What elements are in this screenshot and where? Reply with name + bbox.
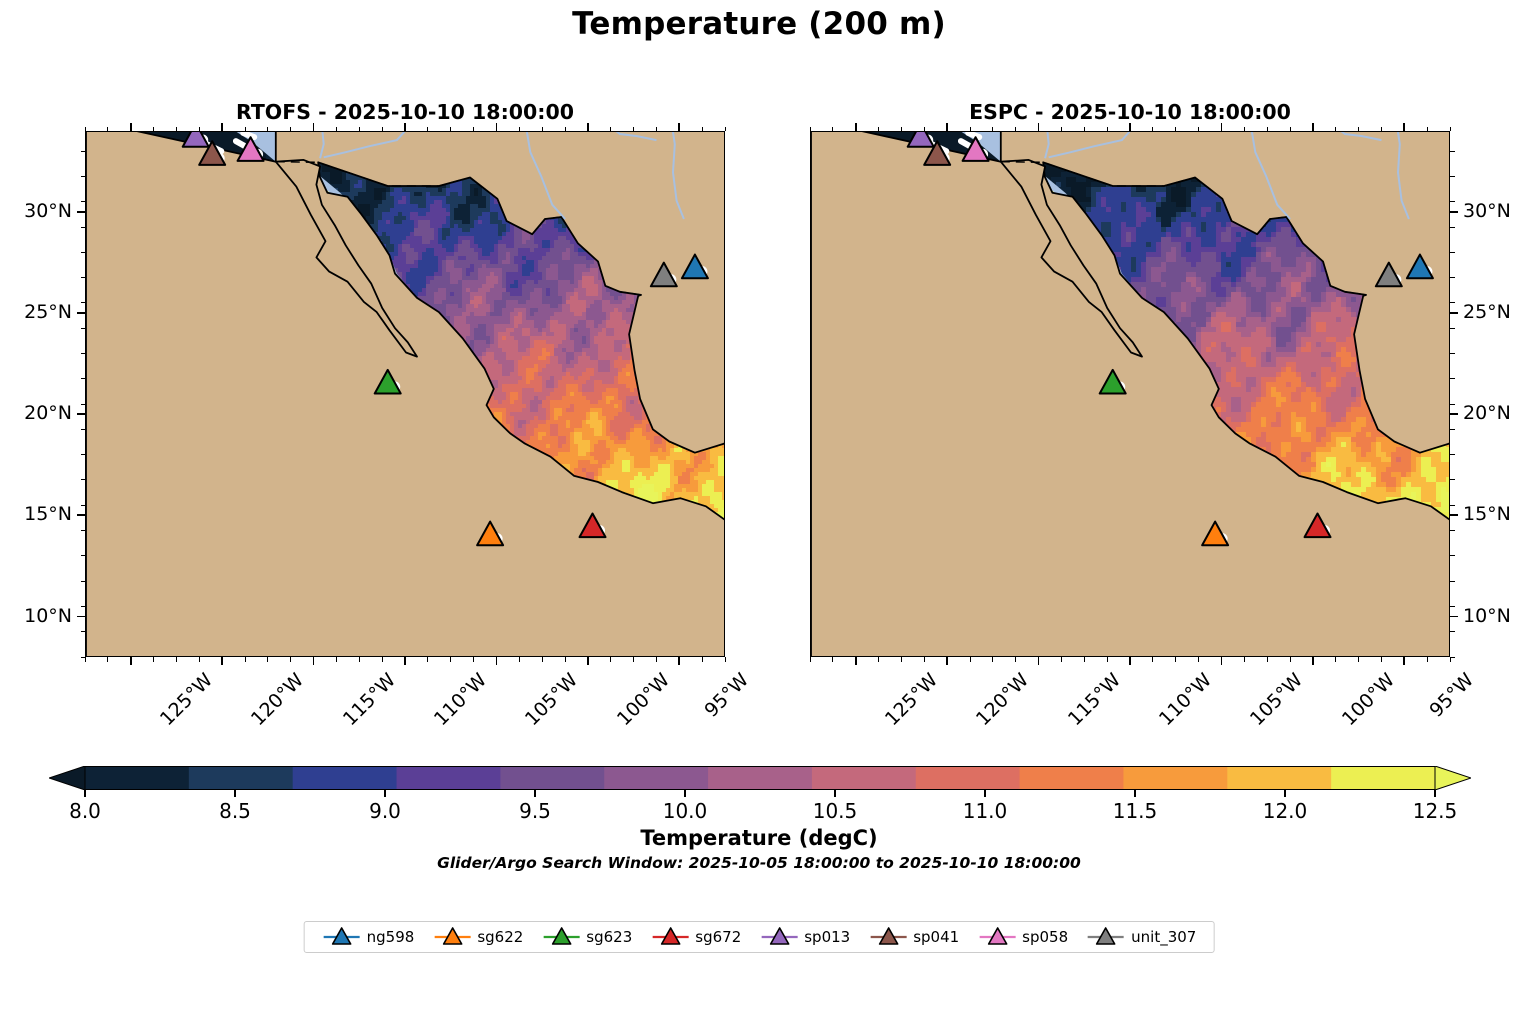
xtick-top bbox=[519, 127, 520, 132]
platform-legend[interactable]: ng598sg622sg623sg672sp013sp041sp058unit_… bbox=[304, 921, 1215, 953]
colorbar-band-7 bbox=[812, 766, 916, 790]
xtick-top bbox=[199, 127, 200, 132]
xtick-minor bbox=[810, 657, 811, 662]
xtick-top bbox=[1152, 127, 1153, 132]
xtick-label: 100°W bbox=[1338, 669, 1399, 730]
colorbar-tick-label: 12.0 bbox=[1245, 799, 1325, 823]
panel-title-espc: ESPC - 2025-10-10 18:00:00 bbox=[810, 100, 1450, 124]
ytick-minor bbox=[1450, 353, 1455, 354]
xtick-top bbox=[1312, 123, 1314, 131]
xtick-top bbox=[1358, 127, 1359, 132]
xtick-minor bbox=[1152, 657, 1153, 662]
xtick-minor bbox=[359, 657, 360, 662]
xtick-top bbox=[610, 127, 611, 132]
xtick-minor bbox=[1244, 657, 1245, 662]
xtick-label: 105°W bbox=[1246, 669, 1307, 730]
legend-entry-sg672[interactable]: sg672 bbox=[650, 926, 741, 948]
xtick-top bbox=[336, 127, 337, 132]
xtick-top bbox=[565, 127, 566, 132]
ytick-minor bbox=[1450, 530, 1455, 531]
colorbar-tick-label: 11.0 bbox=[945, 799, 1025, 823]
legend-label: ng598 bbox=[367, 928, 415, 946]
colorbar-band-11 bbox=[1227, 766, 1331, 790]
search-window-caption: Glider/Argo Search Window: 2025-10-05 18… bbox=[0, 854, 1518, 872]
xtick-label: 110°W bbox=[430, 669, 491, 730]
xtick-label: 100°W bbox=[613, 669, 674, 730]
xtick-major bbox=[130, 657, 132, 665]
ytick-minor bbox=[1450, 657, 1455, 658]
xtick-top bbox=[587, 123, 589, 131]
ytick-minor bbox=[81, 657, 86, 658]
ytick-minor bbox=[81, 404, 86, 405]
legend-marker-sp058 bbox=[977, 926, 1017, 948]
xtick-major bbox=[1221, 657, 1223, 665]
xtick-label: 110°W bbox=[1155, 669, 1216, 730]
xtick-top bbox=[656, 127, 657, 132]
colorbar-tick bbox=[834, 790, 836, 797]
ytick-minor bbox=[1450, 302, 1455, 303]
xtick-minor bbox=[633, 657, 634, 662]
xtick-top bbox=[1107, 127, 1108, 132]
colorbar-tick-label: 9.5 bbox=[495, 799, 575, 823]
xtick-major bbox=[678, 657, 680, 665]
xtick-top bbox=[1335, 127, 1336, 132]
xtick-major bbox=[587, 657, 589, 665]
xtick-label: 120°W bbox=[972, 669, 1033, 730]
ytick-label: 25°N bbox=[1463, 301, 1511, 323]
legend-marker-sg622 bbox=[432, 926, 472, 948]
xtick-top bbox=[427, 127, 428, 132]
xtick-top bbox=[924, 127, 925, 132]
xtick-minor bbox=[1061, 657, 1062, 662]
xtick-minor bbox=[153, 657, 154, 662]
xtick-top bbox=[1015, 127, 1016, 132]
ytick-label: 30°N bbox=[1463, 200, 1511, 222]
legend-marker-unit_307 bbox=[1086, 926, 1126, 948]
xtick-major bbox=[404, 657, 406, 665]
ytick-minor bbox=[1450, 631, 1455, 632]
colorbar-tick-label: 10.0 bbox=[645, 799, 725, 823]
colorbar-tick-label: 8.5 bbox=[195, 799, 275, 823]
xtick-minor bbox=[473, 657, 474, 662]
xtick-label: 115°W bbox=[1063, 669, 1124, 730]
ytick-minor bbox=[1450, 328, 1455, 329]
ytick-minor bbox=[81, 227, 86, 228]
xtick-major bbox=[496, 657, 498, 665]
ytick-minor bbox=[81, 581, 86, 582]
xtick-top bbox=[1084, 127, 1085, 132]
xtick-top bbox=[176, 127, 177, 132]
xtick-top bbox=[1038, 123, 1040, 131]
xtick-minor bbox=[1335, 657, 1336, 662]
map-canvas-espc bbox=[811, 132, 1450, 657]
ytick-minor bbox=[81, 328, 86, 329]
xtick-top bbox=[267, 127, 268, 132]
colorbar-band-8 bbox=[916, 766, 1020, 790]
xtick-label: 95°W bbox=[1426, 669, 1479, 722]
xtick-top bbox=[245, 127, 246, 132]
colorbar-tick-label: 12.5 bbox=[1395, 799, 1475, 823]
ytick-minor bbox=[81, 277, 86, 278]
legend-label: sg622 bbox=[477, 928, 523, 946]
xtick-top bbox=[404, 123, 406, 131]
ytick-minor bbox=[81, 151, 86, 152]
glider-track-2 bbox=[968, 133, 979, 137]
ytick-minor bbox=[81, 353, 86, 354]
xtick-top bbox=[1450, 127, 1451, 132]
ytick-minor bbox=[81, 429, 86, 430]
ytick-label: 25°N bbox=[24, 301, 72, 323]
ytick-minor bbox=[81, 505, 86, 506]
xtick-minor bbox=[245, 657, 246, 662]
xtick-top bbox=[1221, 123, 1223, 131]
ytick-minor bbox=[1450, 429, 1455, 430]
xtick-major bbox=[855, 657, 857, 665]
xtick-minor bbox=[176, 657, 177, 662]
xtick-minor bbox=[992, 657, 993, 662]
xtick-minor bbox=[1175, 657, 1176, 662]
ytick-major bbox=[77, 413, 85, 415]
colorbar-tick-label: 11.5 bbox=[1095, 799, 1175, 823]
legend-label: sp013 bbox=[804, 928, 850, 946]
ytick-minor bbox=[81, 454, 86, 455]
ytick-major bbox=[77, 211, 85, 213]
xtick-minor bbox=[901, 657, 902, 662]
legend-entry-unit_307[interactable]: unit_307 bbox=[1086, 926, 1196, 948]
xtick-minor bbox=[970, 657, 971, 662]
xtick-top bbox=[496, 123, 498, 131]
xtick-top bbox=[1267, 127, 1268, 132]
legend-marker-sg623 bbox=[541, 926, 581, 948]
xtick-top bbox=[1244, 127, 1245, 132]
xtick-top bbox=[1403, 123, 1405, 131]
legend-marker-sp013 bbox=[759, 926, 799, 948]
xtick-top bbox=[1198, 127, 1199, 132]
colorbar-tick bbox=[984, 790, 986, 797]
xtick-top bbox=[678, 123, 680, 131]
legend-label: unit_307 bbox=[1131, 928, 1196, 946]
ytick-label: 20°N bbox=[1463, 402, 1511, 424]
colorbar-tick bbox=[1284, 790, 1286, 797]
colorbar-title: Temperature (degC) bbox=[0, 826, 1518, 850]
colorbar-band-3 bbox=[397, 766, 501, 790]
xtick-label: 115°W bbox=[338, 669, 399, 730]
ytick-label: 15°N bbox=[1463, 503, 1511, 525]
ytick-minor bbox=[81, 631, 86, 632]
xtick-top bbox=[1061, 127, 1062, 132]
colorbar[interactable] bbox=[49, 766, 1471, 790]
panel-title-rtofs: RTOFS - 2025-10-10 18:00:00 bbox=[85, 100, 725, 124]
ytick-label: 10°N bbox=[1463, 605, 1511, 627]
ytick-minor bbox=[1450, 479, 1455, 480]
ytick-minor bbox=[81, 176, 86, 177]
ytick-minor bbox=[1450, 606, 1455, 607]
xtick-label: 125°W bbox=[881, 669, 942, 730]
xtick-minor bbox=[290, 657, 291, 662]
colorbar-tick-label: 10.5 bbox=[795, 799, 875, 823]
colorbar-band-5 bbox=[604, 766, 708, 790]
xtick-label: 125°W bbox=[156, 669, 217, 730]
xtick-minor bbox=[832, 657, 833, 662]
xtick-top bbox=[130, 123, 132, 131]
figure-title: Temperature (200 m) bbox=[0, 6, 1518, 42]
colorbar-band-1 bbox=[189, 766, 293, 790]
ytick-minor bbox=[81, 302, 86, 303]
ytick-minor bbox=[1450, 454, 1455, 455]
xtick-minor bbox=[1107, 657, 1108, 662]
xtick-minor bbox=[1267, 657, 1268, 662]
xtick-top bbox=[725, 127, 726, 132]
xtick-minor bbox=[336, 657, 337, 662]
xtick-top bbox=[855, 123, 857, 131]
ytick-label: 15°N bbox=[24, 503, 72, 525]
ytick-major bbox=[1450, 616, 1458, 618]
ytick-label: 20°N bbox=[24, 402, 72, 424]
xtick-major bbox=[1129, 657, 1131, 665]
colorbar-band-6 bbox=[708, 766, 812, 790]
ytick-major bbox=[77, 616, 85, 618]
xtick-minor bbox=[450, 657, 451, 662]
xtick-top bbox=[1427, 127, 1428, 132]
xtick-minor bbox=[85, 657, 86, 662]
colorbar-tick bbox=[684, 790, 686, 797]
ytick-minor bbox=[81, 252, 86, 253]
ytick-label: 30°N bbox=[24, 200, 72, 222]
colorbar-tick bbox=[84, 790, 86, 797]
legend-label: sp058 bbox=[1022, 928, 1068, 946]
xtick-label: 95°W bbox=[701, 669, 754, 722]
xtick-top bbox=[85, 127, 86, 132]
xtick-minor bbox=[107, 657, 108, 662]
colorbar-tick bbox=[384, 790, 386, 797]
colorbar-tick-label: 9.0 bbox=[345, 799, 425, 823]
ytick-minor bbox=[81, 378, 86, 379]
xtick-top bbox=[1175, 127, 1176, 132]
xtick-top bbox=[1290, 127, 1291, 132]
ytick-major bbox=[77, 514, 85, 516]
ytick-label: 10°N bbox=[24, 605, 72, 627]
ytick-minor bbox=[81, 555, 86, 556]
ytick-minor bbox=[1450, 555, 1455, 556]
xtick-minor bbox=[519, 657, 520, 662]
xtick-top bbox=[221, 123, 223, 131]
xtick-major bbox=[221, 657, 223, 665]
map-panel-rtofs[interactable] bbox=[85, 131, 725, 657]
ytick-minor bbox=[1450, 404, 1455, 405]
ytick-minor bbox=[1450, 581, 1455, 582]
ytick-minor bbox=[1450, 277, 1455, 278]
colorbar-band-10 bbox=[1123, 766, 1227, 790]
xtick-major bbox=[946, 657, 948, 665]
ytick-minor bbox=[1450, 201, 1455, 202]
xtick-top bbox=[153, 127, 154, 132]
xtick-top bbox=[810, 127, 811, 132]
xtick-top bbox=[382, 127, 383, 132]
legend-marker-ng598 bbox=[322, 926, 362, 948]
xtick-minor bbox=[565, 657, 566, 662]
xtick-top bbox=[542, 127, 543, 132]
xtick-top bbox=[832, 127, 833, 132]
xtick-top bbox=[290, 127, 291, 132]
xtick-minor bbox=[656, 657, 657, 662]
xtick-major bbox=[1312, 657, 1314, 665]
xtick-top bbox=[702, 127, 703, 132]
xtick-top bbox=[1129, 123, 1131, 131]
xtick-top bbox=[970, 127, 971, 132]
legend-label: sg623 bbox=[586, 928, 632, 946]
ytick-major bbox=[77, 312, 85, 314]
colorbar-band-0 bbox=[85, 766, 189, 790]
xtick-top bbox=[992, 127, 993, 132]
xtick-top bbox=[359, 127, 360, 132]
map-canvas-rtofs bbox=[86, 132, 725, 657]
legend-entry-sp041[interactable]: sp041 bbox=[868, 926, 959, 948]
legend-marker-sg672 bbox=[650, 926, 690, 948]
xtick-minor bbox=[725, 657, 726, 662]
glider-track-2 bbox=[243, 133, 254, 137]
xtick-minor bbox=[610, 657, 611, 662]
ytick-minor bbox=[1450, 505, 1455, 506]
xtick-minor bbox=[1450, 657, 1451, 662]
xtick-top bbox=[473, 127, 474, 132]
xtick-label: 105°W bbox=[521, 669, 582, 730]
ytick-major bbox=[1450, 211, 1458, 213]
colorbar-band-9 bbox=[1020, 766, 1124, 790]
colorbar-band-12 bbox=[1331, 766, 1435, 790]
legend-entry-sp013[interactable]: sp013 bbox=[759, 926, 850, 948]
ytick-minor bbox=[1450, 227, 1455, 228]
legend-entry-sg622[interactable]: sg622 bbox=[432, 926, 523, 948]
xtick-minor bbox=[1427, 657, 1428, 662]
legend-marker-sp041 bbox=[868, 926, 908, 948]
ytick-minor bbox=[1450, 378, 1455, 379]
colorbar-tick bbox=[234, 790, 236, 797]
xtick-top bbox=[901, 127, 902, 132]
ytick-minor bbox=[81, 530, 86, 531]
ytick-minor bbox=[1450, 176, 1455, 177]
xtick-minor bbox=[1015, 657, 1016, 662]
xtick-minor bbox=[1084, 657, 1085, 662]
colorbar-tick-label: 8.0 bbox=[45, 799, 125, 823]
xtick-major bbox=[1038, 657, 1040, 665]
ytick-minor bbox=[81, 479, 86, 480]
xtick-top bbox=[313, 123, 315, 131]
xtick-minor bbox=[924, 657, 925, 662]
xtick-top bbox=[946, 123, 948, 131]
ytick-major bbox=[1450, 413, 1458, 415]
legend-entry-ng598[interactable]: ng598 bbox=[322, 926, 415, 948]
colorbar-tick bbox=[534, 790, 536, 797]
ytick-minor bbox=[81, 606, 86, 607]
xtick-minor bbox=[199, 657, 200, 662]
xtick-minor bbox=[1358, 657, 1359, 662]
xtick-top bbox=[107, 127, 108, 132]
legend-entry-sp058[interactable]: sp058 bbox=[977, 926, 1068, 948]
xtick-top bbox=[633, 127, 634, 132]
colorbar-tick bbox=[1134, 790, 1136, 797]
ytick-minor bbox=[1450, 151, 1455, 152]
xtick-minor bbox=[1290, 657, 1291, 662]
ytick-major bbox=[1450, 514, 1458, 516]
xtick-minor bbox=[427, 657, 428, 662]
xtick-top bbox=[1381, 127, 1382, 132]
xtick-minor bbox=[1198, 657, 1199, 662]
legend-entry-sg623[interactable]: sg623 bbox=[541, 926, 632, 948]
colorbar-band-4 bbox=[500, 766, 604, 790]
colorbar-extend-max bbox=[1435, 766, 1471, 790]
colorbar-tick bbox=[1434, 790, 1436, 797]
xtick-major bbox=[313, 657, 315, 665]
xtick-minor bbox=[382, 657, 383, 662]
xtick-minor bbox=[542, 657, 543, 662]
xtick-top bbox=[878, 127, 879, 132]
legend-label: sg672 bbox=[695, 928, 741, 946]
legend-label: sp041 bbox=[913, 928, 959, 946]
map-panel-espc[interactable] bbox=[810, 131, 1450, 657]
xtick-major bbox=[1403, 657, 1405, 665]
xtick-minor bbox=[878, 657, 879, 662]
xtick-minor bbox=[702, 657, 703, 662]
ytick-minor bbox=[81, 201, 86, 202]
ytick-minor bbox=[1450, 252, 1455, 253]
xtick-top bbox=[450, 127, 451, 132]
colorbar-extend-min bbox=[49, 766, 85, 790]
xtick-minor bbox=[1381, 657, 1382, 662]
xtick-minor bbox=[267, 657, 268, 662]
xtick-label: 120°W bbox=[247, 669, 308, 730]
ytick-major bbox=[1450, 312, 1458, 314]
colorbar-band-2 bbox=[293, 766, 397, 790]
